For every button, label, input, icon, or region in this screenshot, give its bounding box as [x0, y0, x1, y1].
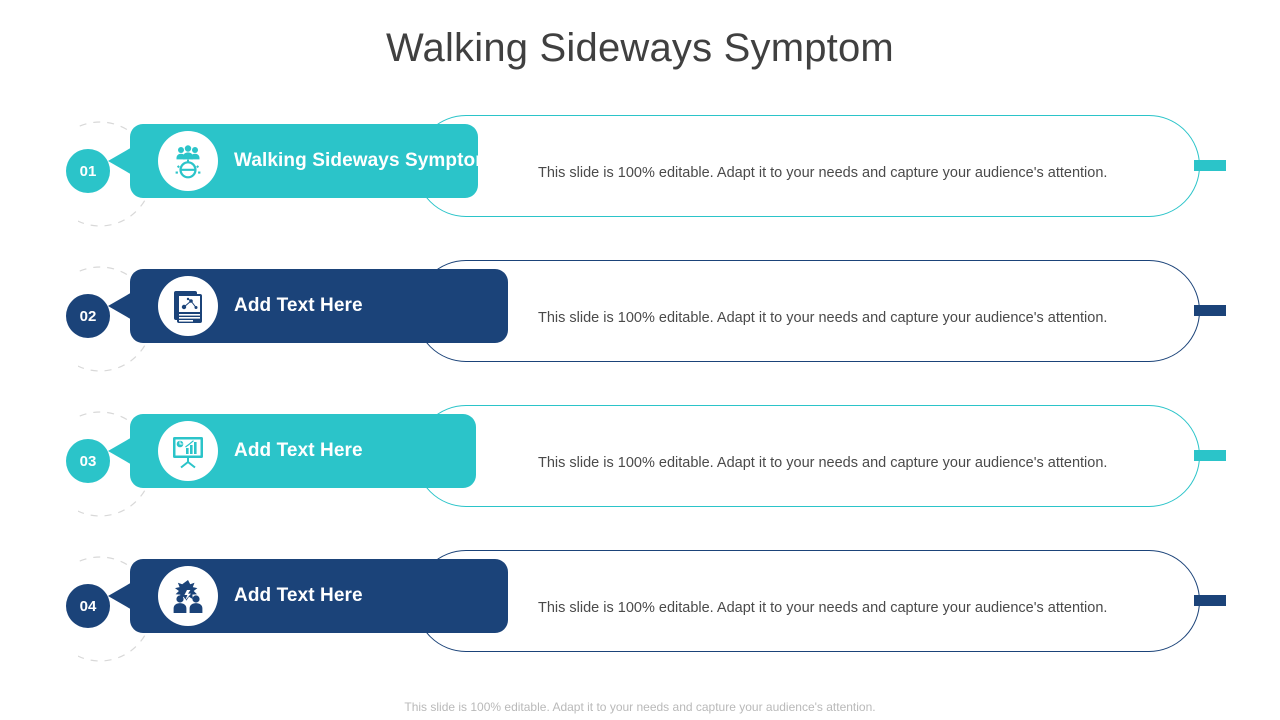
label-bar-text: Add Text Here	[234, 559, 363, 633]
document-network-icon	[158, 276, 218, 336]
label-bar[interactable]: Walking Sideways Symptom	[130, 124, 478, 198]
row-description: This slide is 100% editable. Adapt it to…	[538, 243, 1178, 393]
page-title: Walking Sideways Symptom	[0, 22, 1280, 74]
people-conflict-icon	[158, 566, 218, 626]
label-bar[interactable]: Add Text Here	[130, 559, 508, 633]
step-badge: 03	[66, 439, 110, 483]
list-item[interactable]: 04 Add Text Here This slide is 100% edit…	[0, 533, 1280, 683]
row-description: This slide is 100% editable. Adapt it to…	[538, 388, 1178, 538]
label-bar[interactable]: Add Text Here	[130, 414, 476, 488]
footer-note: This slide is 100% editable. Adapt it to…	[0, 700, 1280, 714]
panel-edge-tab	[1194, 595, 1226, 606]
presentation-chart-icon	[158, 421, 218, 481]
people-gear-icon	[158, 131, 218, 191]
step-badge: 04	[66, 584, 110, 628]
slide-canvas: Walking Sideways Symptom 01	[0, 0, 1280, 720]
list-item[interactable]: 01 Walking Sideways Symptom This slide i…	[0, 98, 1280, 248]
panel-edge-tab	[1194, 450, 1226, 461]
row-description: This slide is 100% editable. Adapt it to…	[538, 533, 1178, 683]
panel-edge-tab	[1194, 305, 1226, 316]
label-bar-text: Add Text Here	[234, 414, 363, 488]
list-item[interactable]: 02	[0, 243, 1280, 393]
label-bar-text: Add Text Here	[234, 269, 363, 343]
step-badge: 01	[66, 149, 110, 193]
list-item[interactable]: 03	[0, 388, 1280, 538]
row-description: This slide is 100% editable. Adapt it to…	[538, 98, 1178, 248]
panel-edge-tab	[1194, 160, 1226, 171]
step-badge: 02	[66, 294, 110, 338]
label-bar[interactable]: Add Text Here	[130, 269, 508, 343]
label-bar-text: Walking Sideways Symptom	[234, 124, 492, 198]
